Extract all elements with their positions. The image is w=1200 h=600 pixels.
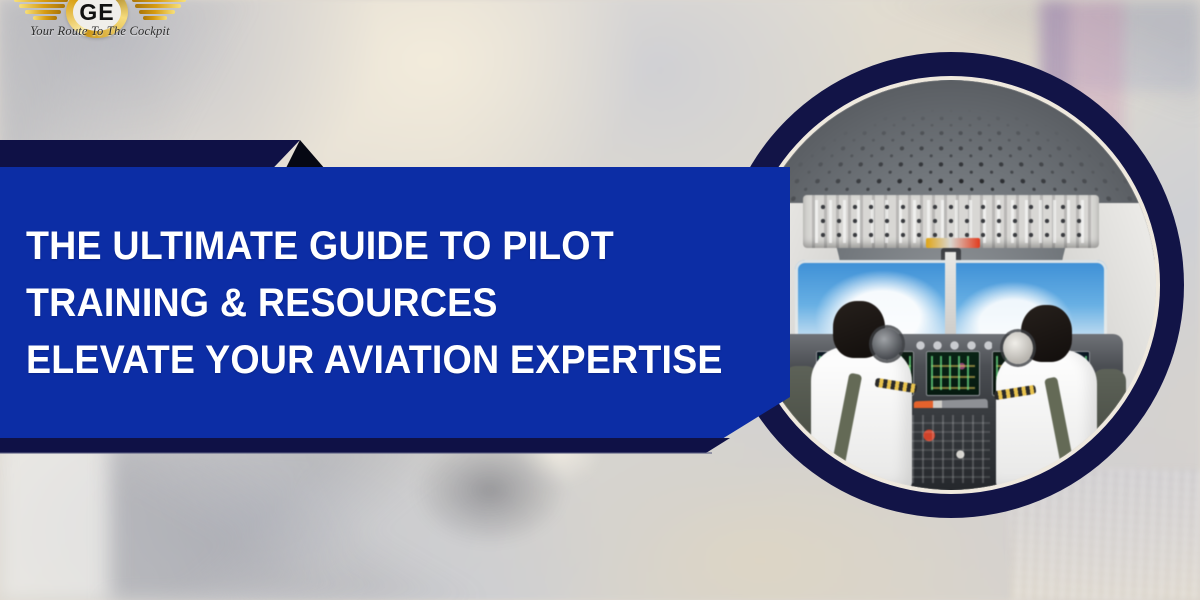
banner-navy-underline bbox=[0, 438, 730, 453]
brand-tagline: Your Route To The Cockpit bbox=[14, 24, 186, 39]
brand-logo[interactable]: GE Your Route To The Cockpit bbox=[14, 0, 186, 50]
banner-underline-hairline bbox=[0, 452, 712, 454]
headline-line-3: ELEVATE YOUR AVIATION EXPERTISE bbox=[26, 332, 646, 389]
cockpit-photo bbox=[746, 80, 1156, 490]
photo-softening-overlay bbox=[746, 80, 1156, 490]
wing-right-icon bbox=[130, 0, 186, 22]
headline-line-1: THE ULTIMATE GUIDE TO PILOT bbox=[26, 218, 646, 275]
wing-left-icon bbox=[14, 0, 70, 22]
background-control-yoke bbox=[370, 430, 630, 600]
page-title: THE ULTIMATE GUIDE TO PILOT TRAINING & R… bbox=[26, 218, 646, 389]
headline-line-2: TRAINING & RESOURCES bbox=[26, 275, 646, 332]
hero-banner: THE ULTIMATE GUIDE TO PILOT TRAINING & R… bbox=[0, 0, 1200, 600]
